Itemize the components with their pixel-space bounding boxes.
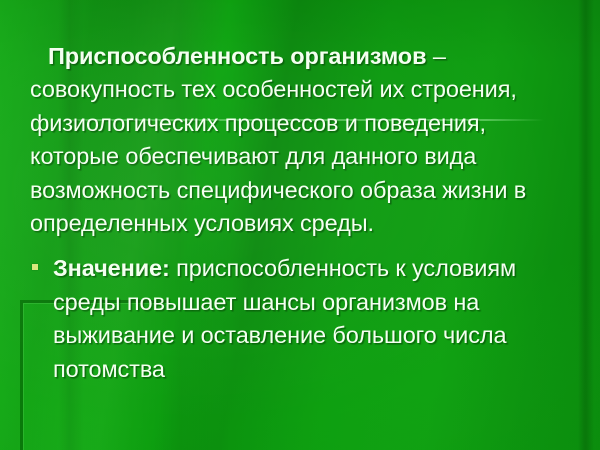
list-item: Значение: приспособленность к условиям с… [30, 252, 578, 386]
definition-paragraph: Приспособленность организмов – совокупно… [30, 40, 578, 241]
list-item-term: Значение: [53, 255, 170, 281]
list-item-text: Значение: приспособленность к условиям с… [53, 252, 578, 386]
square-bullet-icon [32, 264, 38, 270]
presentation-slide: Приспособленность организмов – совокупно… [0, 0, 600, 450]
bullet-list: Значение: приспособленность к условиям с… [30, 252, 578, 386]
definition-term: Приспособленность организмов [30, 43, 426, 69]
slide-content: Приспособленность организмов – совокупно… [0, 0, 600, 450]
definition-body: – совокупность тех особенностей их строе… [30, 43, 526, 237]
